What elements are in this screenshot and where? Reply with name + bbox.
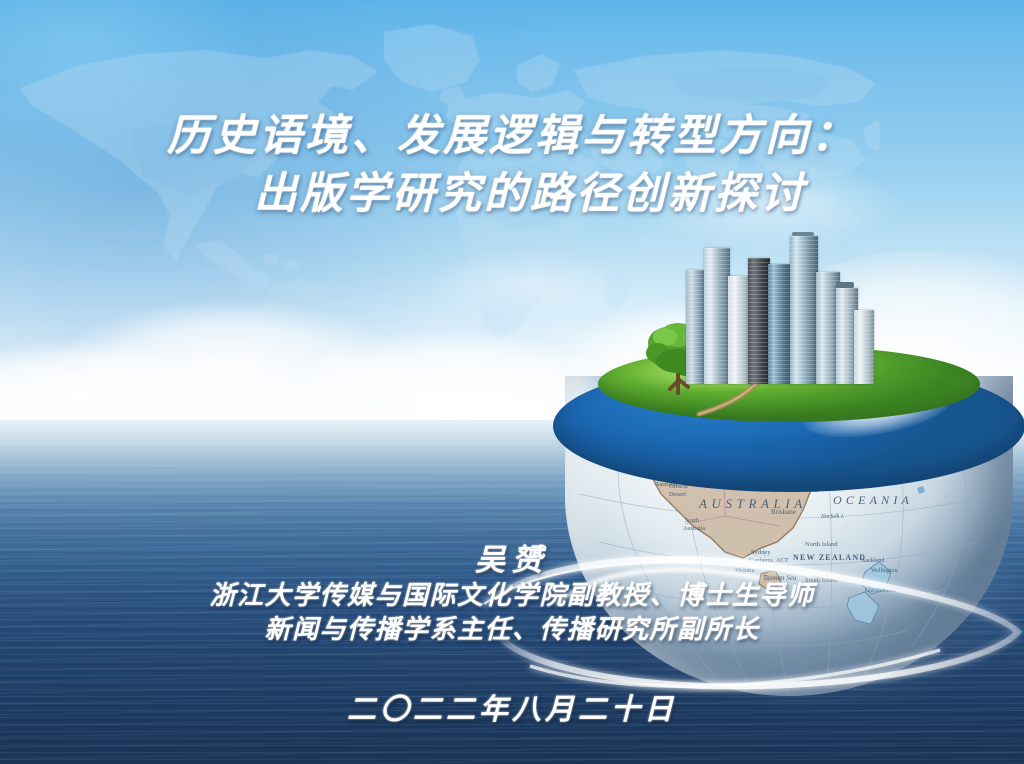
author-affiliation-line-2: 新闻与传播学系主任、传播研究所副所长 bbox=[0, 613, 1024, 647]
building bbox=[748, 258, 770, 384]
title-block: 历史语境、发展逻辑与转型方向： 出版学研究的路径创新探讨 bbox=[0, 108, 1024, 224]
building bbox=[854, 310, 874, 384]
building-rooftop bbox=[836, 282, 854, 288]
author-block: 吴赟 浙江大学传媒与国际文化学院副教授、博士生导师 新闻与传播学系主任、传播研究… bbox=[0, 543, 1024, 647]
building bbox=[790, 236, 818, 384]
title-line-1: 历史语境、发展逻辑与转型方向： bbox=[0, 108, 1024, 166]
svg-text:South: South bbox=[685, 518, 699, 524]
svg-text:OCEANIA: OCEANIA bbox=[833, 493, 913, 507]
building bbox=[704, 248, 730, 384]
building-rooftop bbox=[792, 232, 814, 236]
svg-text:Desert: Desert bbox=[669, 491, 686, 498]
author-affiliation-line-1: 浙江大学传媒与国际文化学院副教授、博士生导师 bbox=[0, 579, 1024, 613]
city-skyline bbox=[686, 232, 882, 384]
presentation-date: 二〇二二年八月二十日 bbox=[0, 686, 1024, 728]
svg-text:Brisbane: Brisbane bbox=[771, 508, 796, 516]
building bbox=[686, 270, 706, 384]
title-line-2: 出版学研究的路径创新探讨 bbox=[0, 166, 1024, 224]
svg-text:Norfolk I.: Norfolk I. bbox=[820, 513, 844, 520]
svg-text:Australia: Australia bbox=[683, 526, 705, 532]
author-name: 吴赟 bbox=[0, 543, 1024, 579]
presentation-slide: AUSTRALIA OCEANIA Northern Territory Que… bbox=[0, 0, 1024, 764]
